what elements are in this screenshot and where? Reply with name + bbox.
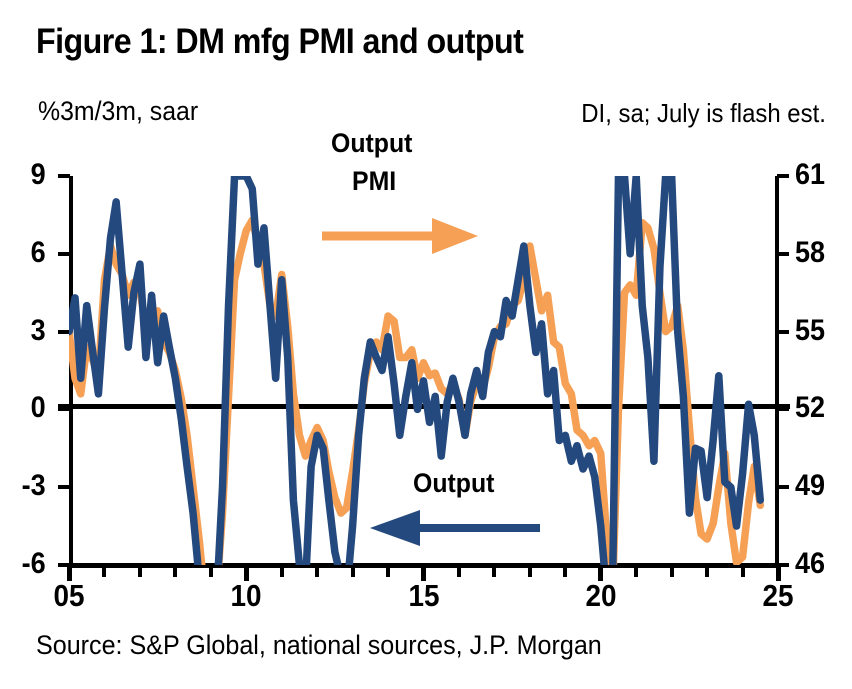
figure-container: Figure 1: DM mfg PMI and output %3m/3m, … bbox=[0, 0, 852, 689]
source-note: Source: S&P Global, national sources, J.… bbox=[36, 630, 602, 661]
chart-plot-area bbox=[0, 0, 852, 689]
arrow-right-orange bbox=[322, 218, 478, 254]
arrow-left-blue bbox=[370, 510, 540, 546]
